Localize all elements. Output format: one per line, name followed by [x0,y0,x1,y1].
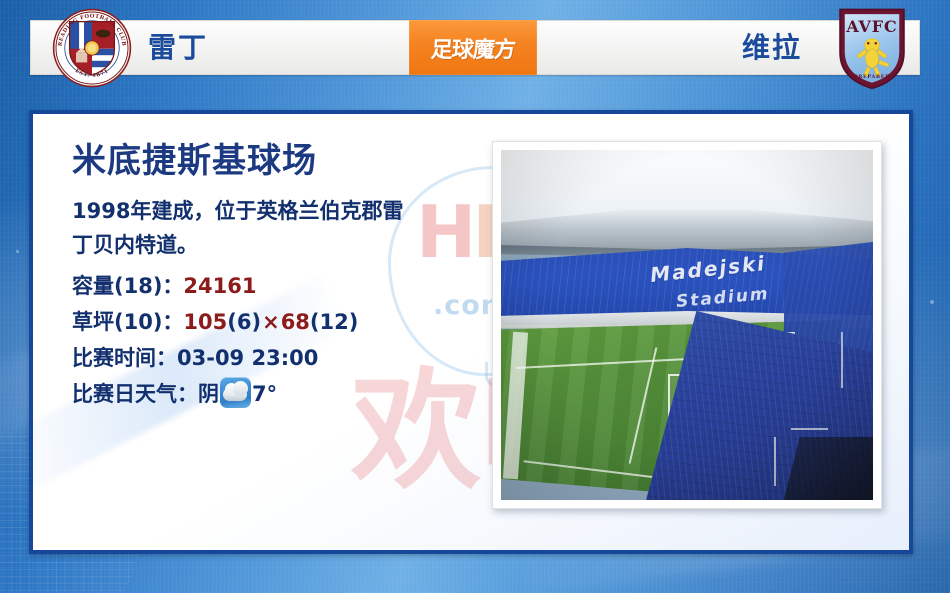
match-header: READING FOOTBALL CLUB EST. 1871 雷丁 足球魔方 … [0,0,950,93]
stadium-description: 1998年建成，位于英格兰伯克郡雷丁贝内特道。 [72,194,412,262]
madejski-stadium-photo: Madejski Stadium [501,150,873,500]
svg-text:AVFC: AVFC [845,17,897,36]
background-dot [930,300,934,304]
pitch-length-rank: (6) [227,310,261,334]
weather-temperature: 7° [252,382,277,406]
cloudy-weather-icon [220,377,251,408]
site-logo[interactable]: 足球魔方 [409,20,537,75]
app-stage: READING FOOTBALL CLUB EST. 1871 雷丁 足球魔方 … [0,0,950,593]
capacity-row: 容量(18)：24161 [72,268,492,304]
aston-villa-crest: AVFC PREPARED [834,4,910,92]
stadium-details: 米底捷斯基球场 1998年建成，位于英格兰伯克郡雷丁贝内特道。 容量(18)：2… [72,142,492,413]
weather-condition: 阴 [198,382,219,406]
pitch-width-rank: (12) [310,310,358,334]
kickoff-label: 比赛时间： [72,346,177,370]
reading-fc-crest: READING FOOTBALL CLUB EST. 1871 [52,8,132,88]
pitch-width-value: 68 [281,310,310,334]
pitch-length-value: 105 [183,310,227,334]
weather-row: 比赛日天气：阴7° [72,376,492,412]
svg-text:PREPARED: PREPARED [854,74,890,80]
photo-vignette [501,150,873,500]
stadium-photo-frame: Madejski Stadium [492,141,882,509]
pitch-label: 草坪(10)： [72,310,183,334]
pitch-row: 草坪(10)：105(6)×68(12) [72,304,492,340]
weather-label: 比赛日天气： [72,382,198,406]
pitch-separator: × [261,310,281,334]
capacity-label: 容量(18)： [72,274,183,298]
away-team-name: 维拉 [742,20,802,75]
stadium-title: 米底捷斯基球场 [72,142,492,180]
kickoff-value: 03-09 23:00 [177,346,318,370]
capacity-value: 24161 [183,274,256,298]
site-logo-text: 足球魔方 [430,32,516,64]
kickoff-row: 比赛时间：03-09 23:00 [72,340,492,376]
background-dot [16,250,19,253]
home-team-name: 雷丁 [148,20,208,75]
stadium-info-panel: HHHH .com 欢呼 米底捷斯基球场 1998年建成，位于英格兰伯克郡雷丁贝… [29,110,913,554]
